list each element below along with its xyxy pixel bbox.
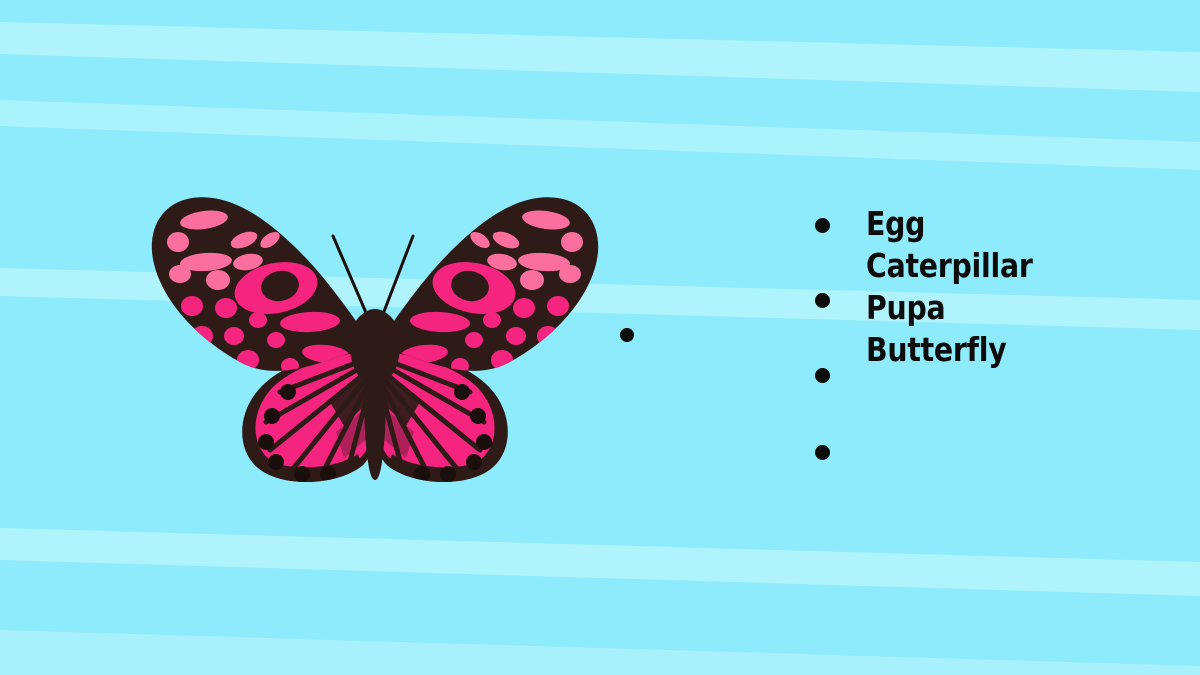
- slide-canvas: Egg Caterpillar Pupa Butterfly: [0, 0, 1200, 675]
- butterfly-illustration: [130, 170, 620, 500]
- bullet-point-icon: [815, 293, 830, 308]
- list-item-pupa: Pupa: [866, 291, 945, 325]
- bullet-point-icon: [815, 368, 830, 383]
- bullet-point-icon: [815, 445, 830, 460]
- list-item-egg: Egg: [866, 207, 925, 241]
- list-item-butterfly: Butterfly: [866, 333, 1006, 367]
- list-item-caterpillar: Caterpillar: [866, 249, 1033, 283]
- stray-marker-dot: [620, 328, 634, 342]
- abdomen: [364, 368, 385, 480]
- butterfly-life-cycle-list: Egg Caterpillar Pupa Butterfly: [815, 196, 1115, 486]
- bullet-point-icon: [815, 218, 830, 233]
